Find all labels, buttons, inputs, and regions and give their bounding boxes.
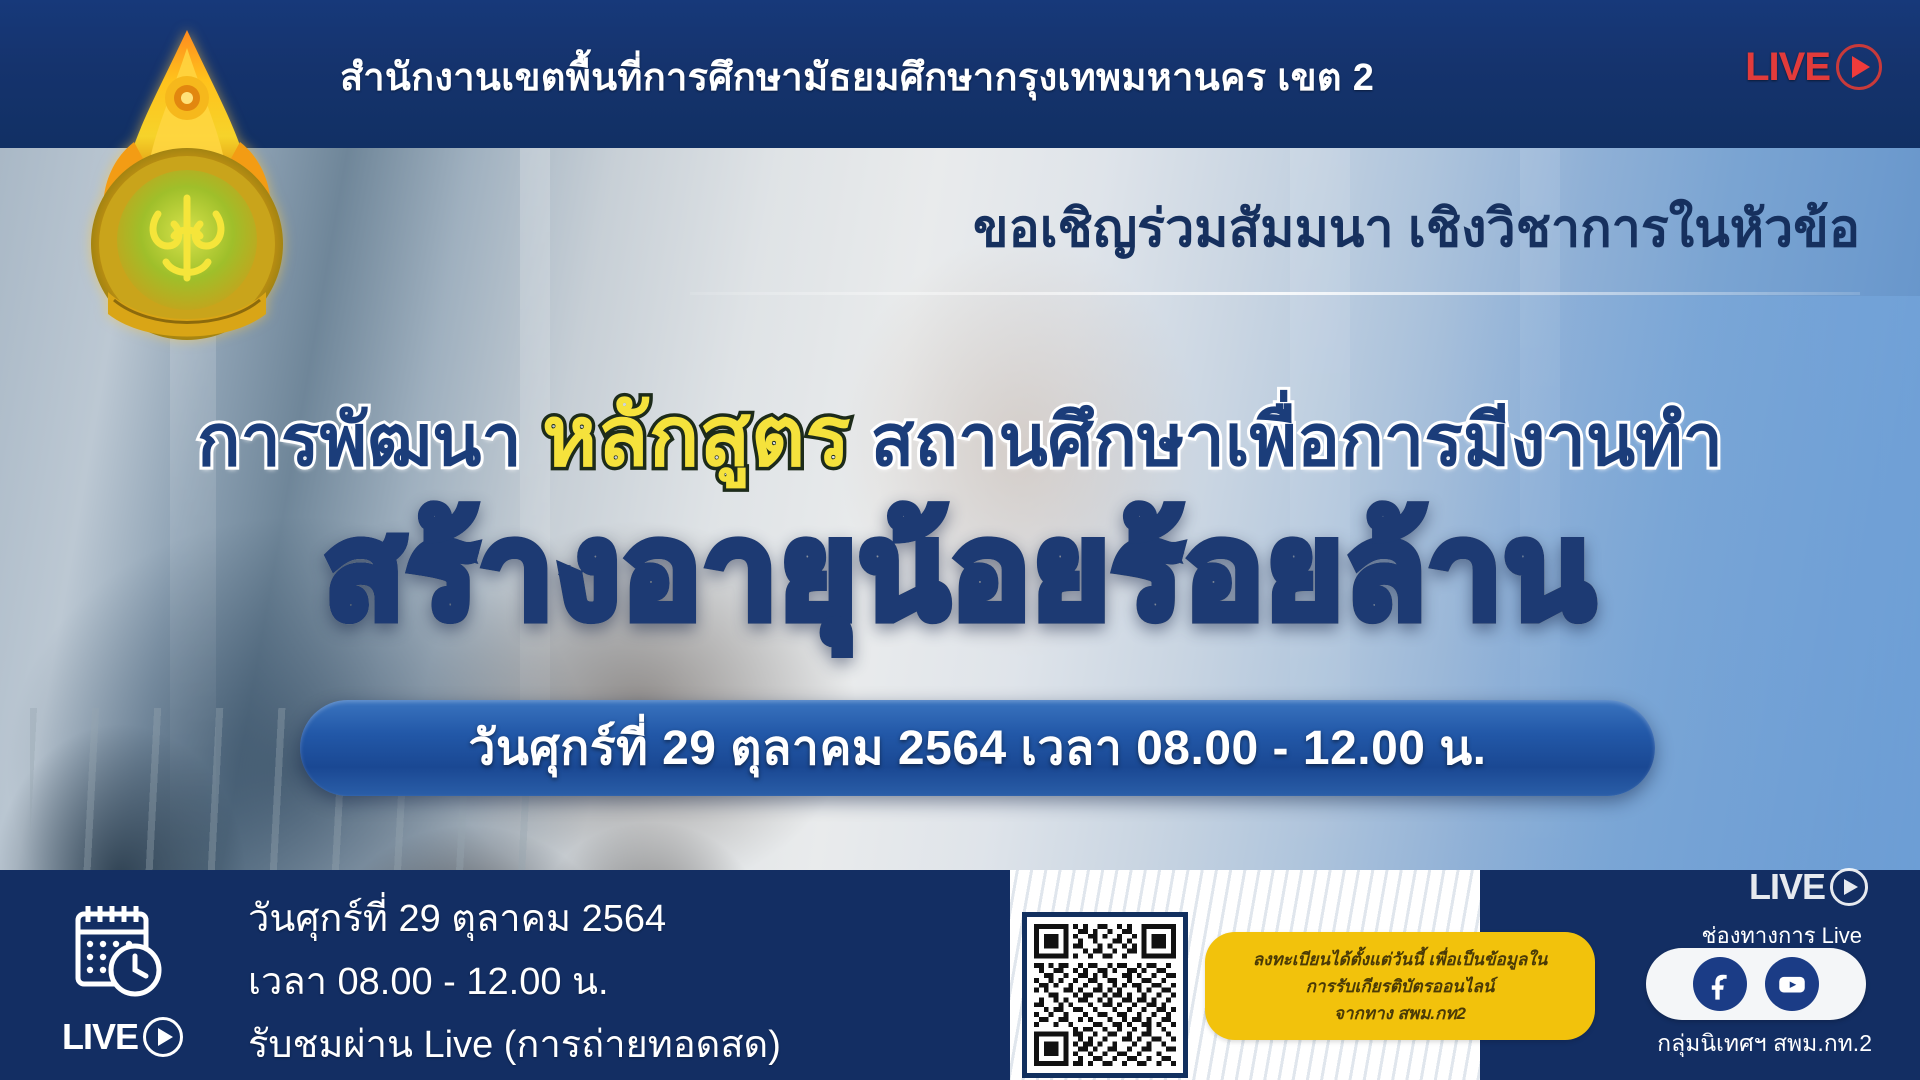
office-title: สำนักงานเขตพื้นที่การศึกษามัธยมศึกษากรุง…: [340, 46, 1640, 107]
footer-date: วันศุกร์ที่ 29 ตุลาคม 2564: [248, 888, 781, 951]
seminar-poster: สำนักงานเขตพื้นที่การศึกษามัธยมศึกษากรุง…: [0, 0, 1920, 1080]
footer-time: เวลา 08.00 - 12.00 น.: [248, 951, 781, 1014]
live-label: LIVE: [62, 1016, 138, 1058]
play-icon: [1836, 44, 1882, 90]
registration-qr-code[interactable]: [1022, 912, 1188, 1078]
live-label: LIVE: [1745, 45, 1830, 90]
social-links: [1646, 948, 1866, 1020]
facebook-icon[interactable]: [1693, 957, 1747, 1011]
registration-note: ลงทะเบียนได้ตั้งแต่วันนี้ เพื่อเป็นข้อมู…: [1205, 932, 1595, 1040]
note-line-1: ลงทะเบียนได้ตั้งแต่วันนี้ เพื่อเป็นข้อมู…: [1253, 946, 1548, 973]
live-badge-channel[interactable]: LIVE: [1749, 866, 1868, 908]
footer-watch: รับชมผ่าน Live (การถ่ายทอดสด): [248, 1014, 781, 1077]
footer-info-lines: วันศุกร์ที่ 29 ตุลาคม 2564 เวลา 08.00 - …: [248, 888, 781, 1077]
thai-ministry-of-education-emblem: [62, 22, 312, 362]
calendar-clock-icon: [70, 898, 166, 1002]
note-line-3: จากทาง สพม.กท2: [1334, 1000, 1466, 1027]
youtube-icon[interactable]: [1765, 957, 1819, 1011]
live-badge-footer[interactable]: LIVE: [62, 1016, 183, 1058]
play-icon: [1830, 868, 1868, 906]
live-badge-header[interactable]: LIVE: [1745, 44, 1882, 90]
play-icon: [143, 1017, 183, 1057]
date-time-text: วันศุกร์ที่ 29 ตุลาคม 2564 เวลา 08.00 - …: [469, 710, 1487, 786]
live-label: LIVE: [1749, 866, 1825, 908]
invite-divider: [690, 292, 1860, 295]
note-line-2: การรับเกียรติบัตรออนไลน์: [1306, 973, 1495, 1000]
group-label: กลุ่มนิเทศฯ สพม.กท.2: [1657, 1026, 1872, 1062]
date-time-pill: วันศุกร์ที่ 29 ตุลาคม 2564 เวลา 08.00 - …: [300, 700, 1655, 796]
main-headline: สร้างอายุน้อยร้อยล้าน: [0, 466, 1920, 676]
